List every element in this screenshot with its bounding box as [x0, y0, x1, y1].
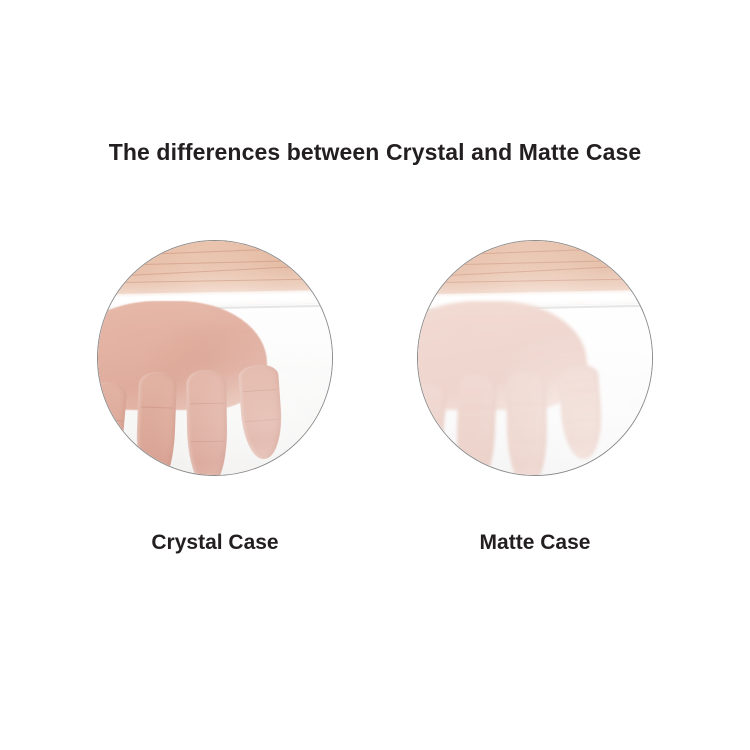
palm-crease-line — [109, 259, 333, 266]
knuckle-line — [243, 388, 277, 391]
knuckle-line — [141, 407, 173, 409]
matte-case-photo-circle — [417, 240, 653, 476]
knuckle-line — [565, 419, 599, 422]
caption-matte-case: Matte Case — [417, 531, 653, 555]
knuckle-line — [509, 403, 543, 405]
knuckle-line — [461, 407, 493, 409]
uncovered-palm-skin — [417, 240, 653, 297]
palm-crease-line — [417, 247, 653, 258]
palm-crease-line — [97, 265, 321, 278]
knuckle-line — [510, 440, 544, 442]
palm-crease-line — [125, 278, 333, 283]
uncovered-palm-skin — [97, 240, 333, 297]
palm-crease-line — [417, 265, 641, 278]
palm-crease-line — [445, 278, 653, 283]
palm-crease-line — [97, 247, 333, 258]
finger-3 — [186, 369, 228, 476]
comparison-panel-matte — [417, 240, 653, 476]
knuckle-line — [245, 419, 279, 422]
knuckle-line — [190, 440, 224, 442]
crystal-case-photo — [97, 240, 333, 476]
comparison-panel-crystal — [97, 240, 333, 476]
product-comparison-image: The differences between Crystal and Matt… — [0, 0, 750, 750]
crystal-case-photo-circle — [97, 240, 333, 476]
knuckle-line — [189, 403, 223, 405]
finger-3 — [506, 369, 548, 476]
caption-crystal-case: Crystal Case — [97, 531, 333, 555]
matte-case-photo — [417, 240, 653, 476]
page-title: The differences between Crystal and Matt… — [0, 139, 750, 166]
palm-crease-line — [429, 259, 653, 266]
finger-2 — [455, 372, 497, 476]
knuckle-line — [417, 417, 442, 421]
knuckle-line — [97, 417, 122, 421]
knuckle-line — [563, 388, 597, 391]
finger-2 — [135, 372, 177, 476]
